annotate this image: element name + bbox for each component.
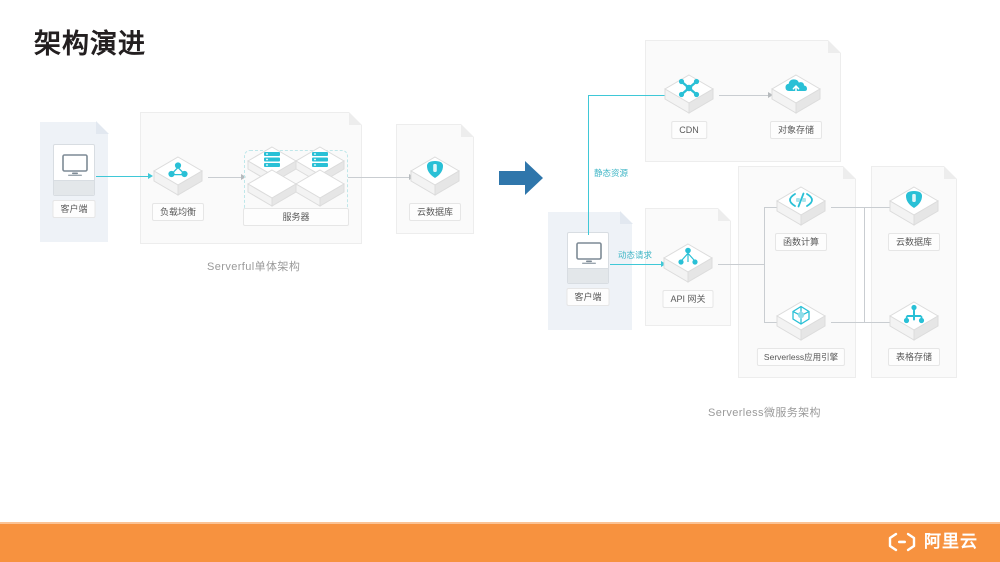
right-arrow-icon [497, 158, 545, 198]
connector-apigw-to-split [718, 264, 764, 265]
connector-sae-to-bus [831, 322, 865, 323]
api-gateway-label: API 网关 [662, 290, 713, 308]
right-diagram-caption: Serverless微服务架构 [708, 404, 821, 420]
function-compute-label: 函数计算 [775, 233, 827, 251]
alibaba-cloud-logo-icon [887, 532, 917, 552]
monitor-base [54, 180, 94, 195]
serverless-app-engine-icon [773, 298, 829, 346]
load-balancer-label: 负载均衡 [152, 203, 204, 221]
connector-cdn-to-oss [719, 95, 769, 96]
brand-logo: 阿里云 [887, 532, 978, 552]
cloud-database-icon [407, 153, 463, 201]
monitor-base [568, 268, 608, 283]
cdn-icon [661, 71, 717, 119]
table-store-icon [886, 298, 942, 346]
left-client-label: 客户端 [52, 200, 95, 218]
footer-bar: 阿里云 [0, 522, 1000, 562]
left-diagram-caption: Serverful单体架构 [207, 258, 300, 274]
api-gateway-icon [660, 240, 716, 288]
connector-client-to-apigw [610, 264, 662, 265]
slide-canvas: 架构演进 客户端 [0, 0, 1000, 562]
connector-lb-to-server [208, 177, 242, 178]
object-storage-label: 对象存储 [770, 121, 822, 139]
connector-client-to-lb [96, 176, 148, 177]
object-storage-icon [768, 71, 824, 119]
table-store-label: 表格存储 [888, 348, 940, 366]
right-client-label: 客户端 [566, 288, 609, 306]
cloud-database-left-label: 云数据库 [409, 203, 461, 221]
cloud-database-icon [886, 183, 942, 231]
footer-chevron-2 [535, 522, 708, 562]
monitor-icon [567, 232, 609, 284]
connector-fc-to-bus [831, 207, 865, 208]
connector-static-horizontal [588, 95, 666, 96]
footer-chevron-3 [675, 522, 848, 562]
cloud-database-right-label: 云数据库 [888, 233, 940, 251]
server-group-label: 服务器 [243, 208, 349, 226]
monitor-icon [53, 144, 95, 196]
footer-top-highlight [0, 522, 1000, 524]
load-balancer-icon [150, 153, 206, 201]
serverless-app-engine-label: Serverless应用引擎 [757, 348, 845, 366]
transition-arrow [497, 158, 545, 203]
page-title: 架构演进 [34, 28, 146, 60]
connector-static-vertical [588, 95, 589, 235]
server-base-icon [292, 166, 348, 214]
brand-name: 阿里云 [924, 532, 978, 552]
cdn-label: CDN [671, 121, 707, 139]
connector-storage-bus-vertical [864, 207, 865, 322]
function-compute-icon [773, 183, 829, 231]
connector-compute-split-vertical [764, 207, 765, 322]
footer-chevron-1 [275, 522, 448, 562]
edge-label-static-resources: 静态资源 [594, 168, 628, 179]
edge-label-dynamic-requests: 动态请求 [618, 250, 652, 261]
connector-server-to-db [348, 177, 410, 178]
